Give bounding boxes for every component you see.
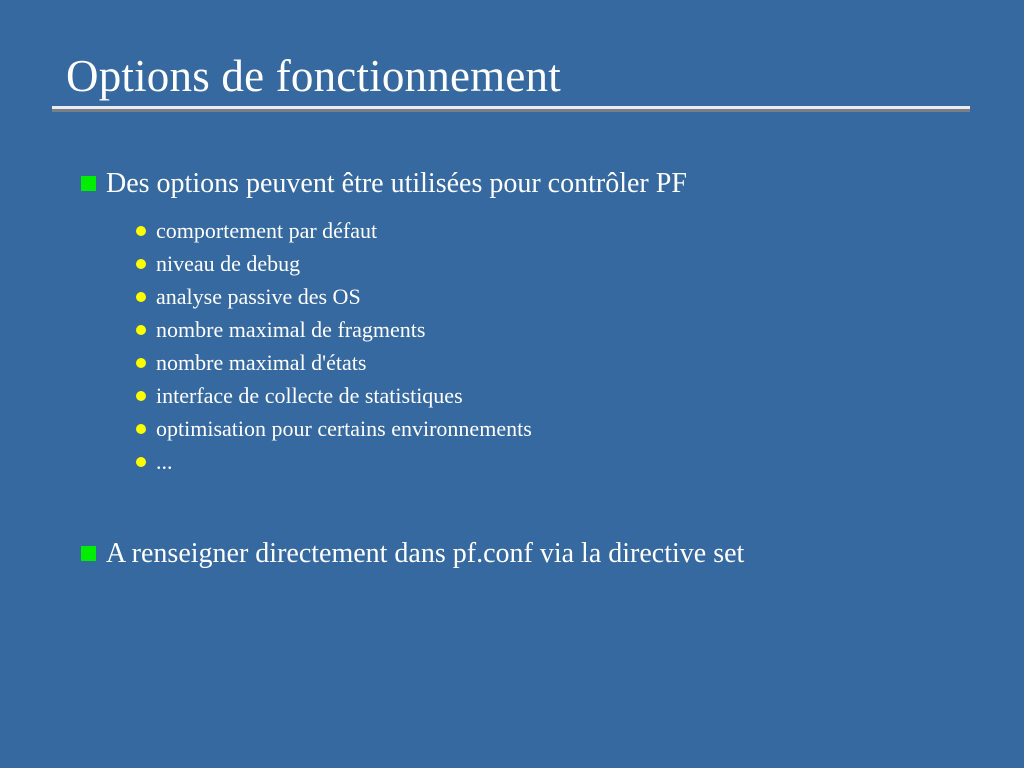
- bullet-list-level1: Des options peuvent être utilisées pour …: [76, 160, 976, 578]
- page-title: Options de fonctionnement: [52, 50, 972, 102]
- presentation-slide: Options de fonctionnement Des options pe…: [0, 0, 1024, 768]
- bullet-text: ...: [156, 449, 173, 474]
- list-item: interface de collecte de statistiques: [134, 379, 976, 412]
- yellow-dot-bullet-icon: [136, 292, 146, 302]
- bullet-list-level2: comportement par défaut niveau de debug …: [106, 214, 976, 478]
- list-item: Des options peuvent être utilisées pour …: [76, 160, 976, 478]
- bullet-text: analyse passive des OS: [156, 284, 361, 309]
- title-divider: [52, 106, 970, 112]
- list-item: ...: [134, 445, 976, 478]
- list-item: niveau de debug: [134, 247, 976, 280]
- title-divider-shadow: [52, 109, 970, 112]
- bullet-text: niveau de debug: [156, 251, 300, 276]
- list-item: analyse passive des OS: [134, 280, 976, 313]
- slide-title-block: Options de fonctionnement: [52, 50, 972, 102]
- bullet-text: nombre maximal de fragments: [156, 317, 425, 342]
- yellow-dot-bullet-icon: [136, 457, 146, 467]
- yellow-dot-bullet-icon: [136, 391, 146, 401]
- green-square-bullet-icon: [81, 176, 96, 191]
- bullet-text: comportement par défaut: [156, 218, 377, 243]
- slide-body: Des options peuvent être utilisées pour …: [76, 160, 976, 578]
- green-square-bullet-icon: [81, 546, 96, 561]
- yellow-dot-bullet-icon: [136, 424, 146, 434]
- yellow-dot-bullet-icon: [136, 259, 146, 269]
- list-item: optimisation pour certains environnement…: [134, 412, 976, 445]
- bullet-text: interface de collecte de statistiques: [156, 383, 463, 408]
- bullet-text: Des options peuvent être utilisées pour …: [106, 160, 931, 208]
- bullet-text: optimisation pour certains environnement…: [156, 416, 532, 441]
- list-item: comportement par défaut: [134, 214, 976, 247]
- yellow-dot-bullet-icon: [136, 325, 146, 335]
- list-item: A renseigner directement dans pf.conf vi…: [76, 530, 976, 578]
- yellow-dot-bullet-icon: [136, 226, 146, 236]
- bullet-list-spacer: [76, 478, 976, 530]
- list-item: nombre maximal de fragments: [134, 313, 976, 346]
- yellow-dot-bullet-icon: [136, 358, 146, 368]
- bullet-text: nombre maximal d'états: [156, 350, 366, 375]
- list-item: nombre maximal d'états: [134, 346, 976, 379]
- bullet-text: A renseigner directement dans pf.conf vi…: [106, 530, 931, 578]
